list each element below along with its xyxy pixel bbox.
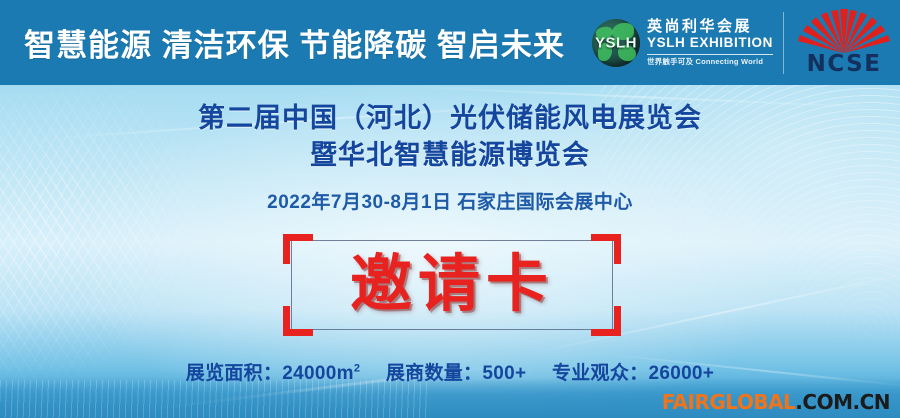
yslh-tagline: 世界触手可及 Connecting World xyxy=(647,57,773,66)
stat-unit: 2 xyxy=(354,363,360,375)
ncse-logo: NCSE xyxy=(796,7,892,79)
invitation-frame: 邀请卡 xyxy=(283,234,621,336)
event-title-line-1: 第二届中国（河北）光伏储能风电展览会 xyxy=(0,100,900,137)
watermark-tld: .COM.CN xyxy=(795,390,890,414)
sunburst-icon xyxy=(796,7,892,53)
header-logo-group: YSLH 英尚利华会展 YSLH EXHIBITION 世界触手可及 Conne… xyxy=(592,0,900,85)
yslh-name-en: YSLH EXHIBITION xyxy=(647,35,773,55)
event-date-venue: 2022年7月30-8月1日 石家庄国际会展中心 xyxy=(0,187,900,214)
stat-item: 展商数量：500+ xyxy=(386,363,527,384)
globe-icon: YSLH xyxy=(592,19,640,67)
header-slogan: 智慧能源 清洁环保 节能降碳 智启未来 xyxy=(24,20,565,65)
invitation-title: 邀请卡 xyxy=(283,254,621,316)
stat-label: 专业观众： xyxy=(552,363,649,384)
yslh-logo: YSLH 英尚利华会展 YSLH EXHIBITION 世界触手可及 Conne… xyxy=(592,12,784,74)
ncse-wordmark: NCSE xyxy=(796,51,892,77)
stat-label: 展商数量： xyxy=(386,363,483,384)
event-title-line-2: 暨华北智慧能源博览会 xyxy=(0,137,900,174)
title-block: 第二届中国（河北）光伏储能风电展览会 暨华北智慧能源博览会 2022年7月30-… xyxy=(0,100,900,214)
invitation-poster: 智慧能源 清洁环保 节能降碳 智启未来 YSLH 英尚利华会展 YSLH EXH… xyxy=(0,0,900,418)
stat-value: 500+ xyxy=(482,363,526,384)
yslh-name-cn: 英尚利华会展 xyxy=(647,19,773,35)
stat-value: 24000m xyxy=(282,363,354,384)
stat-label: 展览面积： xyxy=(186,363,283,384)
stats-row: 展览面积：24000m2 展商数量：500+ 专业观众：26000+ xyxy=(0,358,900,385)
header-bar: 智慧能源 清洁环保 节能降碳 智启未来 YSLH 英尚利华会展 YSLH EXH… xyxy=(0,0,900,85)
stat-value: 26000+ xyxy=(648,363,714,384)
stat-item: 展览面积：24000m2 xyxy=(186,363,360,384)
yslh-text-block: 英尚利华会展 YSLH EXHIBITION 世界触手可及 Connecting… xyxy=(647,19,773,66)
watermark: FAIRGLOBAL.COM.CN xyxy=(662,392,890,412)
watermark-brand: FAIRGLOBAL xyxy=(662,390,796,414)
stat-item: 专业观众：26000+ xyxy=(552,363,714,384)
globe-label: YSLH xyxy=(592,34,640,51)
background-bottom-ripple xyxy=(0,380,430,418)
